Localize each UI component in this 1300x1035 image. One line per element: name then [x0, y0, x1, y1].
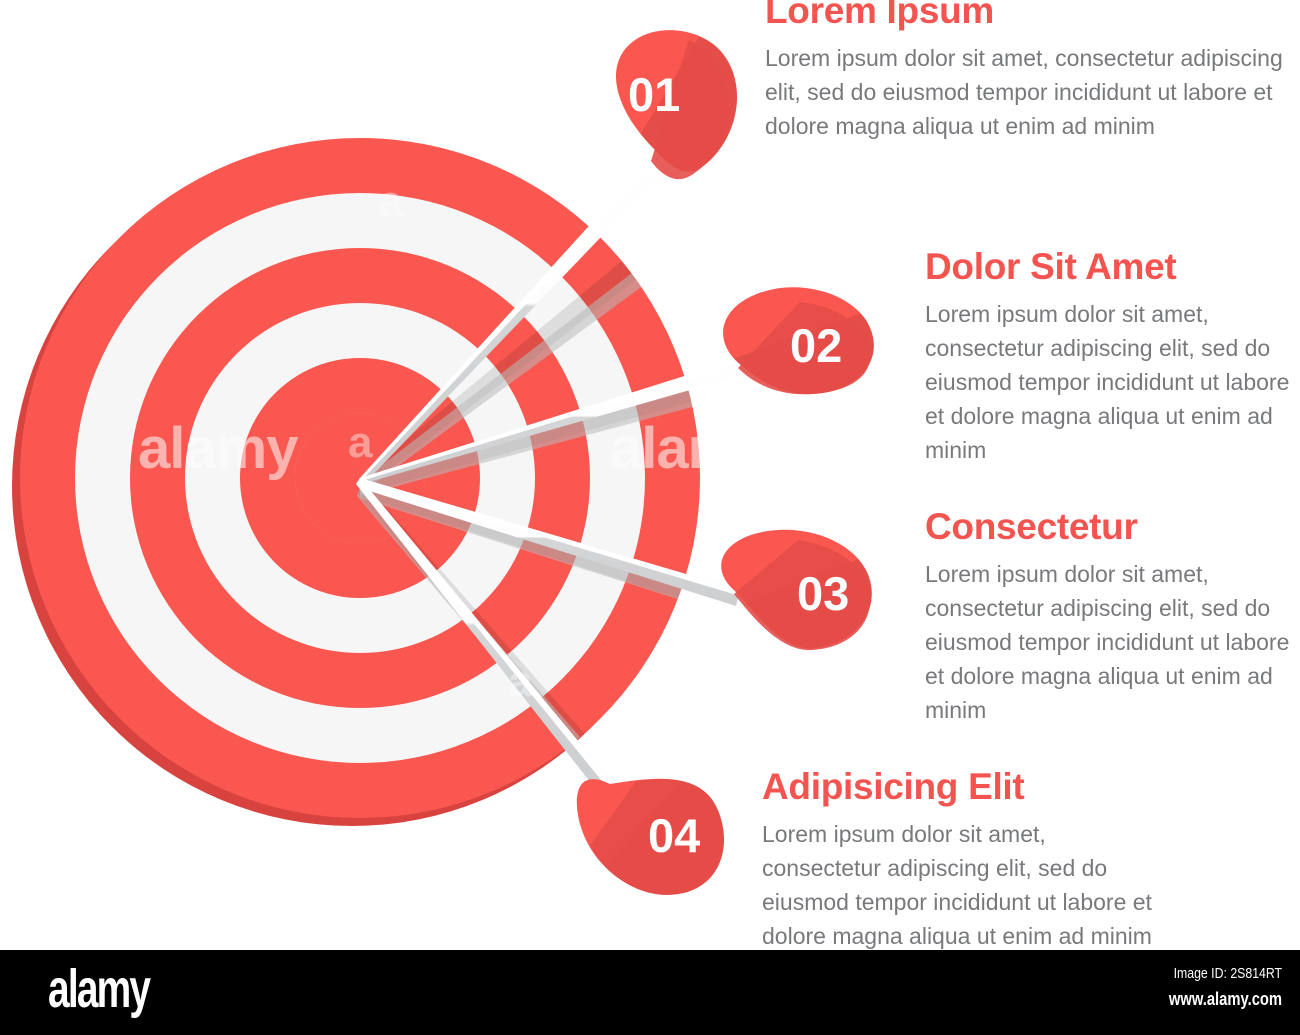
step-01-body: Lorem ipsum dolor sit amet, consectetur … — [765, 41, 1300, 143]
step-03-title: Consectetur — [925, 508, 1300, 547]
dart-number-03: 03 — [797, 570, 849, 617]
step-04-body: Lorem ipsum dolor sit amet, consectetur … — [762, 817, 1162, 950]
step-block-01: Lorem Ipsum Lorem ipsum dolor sit amet, … — [765, 0, 1300, 143]
step-04-title: Adipisicing Elit — [762, 768, 1162, 807]
step-block-04: Adipisicing Elit Lorem ipsum dolor sit a… — [762, 768, 1162, 950]
step-01-title: Lorem Ipsum — [765, 0, 1300, 31]
infographic-canvas: alamy alamy alamy alamy alamy alamy alam… — [0, 0, 1300, 950]
stock-photo-footer: alamy Image ID: 2S814RT www.alamy.com — [0, 950, 1300, 1035]
dart-number-02: 02 — [790, 322, 842, 369]
alamy-logo: alamy — [48, 962, 149, 1016]
footer-meta: Image ID: 2S814RT www.alamy.com — [1144, 965, 1282, 1010]
step-02-body: Lorem ipsum dolor sit amet, consectetur … — [925, 297, 1300, 467]
alamy-url: www.alamy.com — [1169, 989, 1282, 1010]
step-03-body: Lorem ipsum dolor sit amet, consectetur … — [925, 557, 1300, 727]
dart-number-04: 04 — [648, 812, 700, 859]
step-02-title: Dolor Sit Amet — [925, 248, 1300, 287]
step-block-03: Consectetur Lorem ipsum dolor sit amet, … — [925, 508, 1300, 727]
image-id-label: Image ID: 2S814RT — [1169, 965, 1282, 982]
dart-number-01: 01 — [628, 71, 680, 118]
step-block-02: Dolor Sit Amet Lorem ipsum dolor sit ame… — [925, 248, 1300, 467]
